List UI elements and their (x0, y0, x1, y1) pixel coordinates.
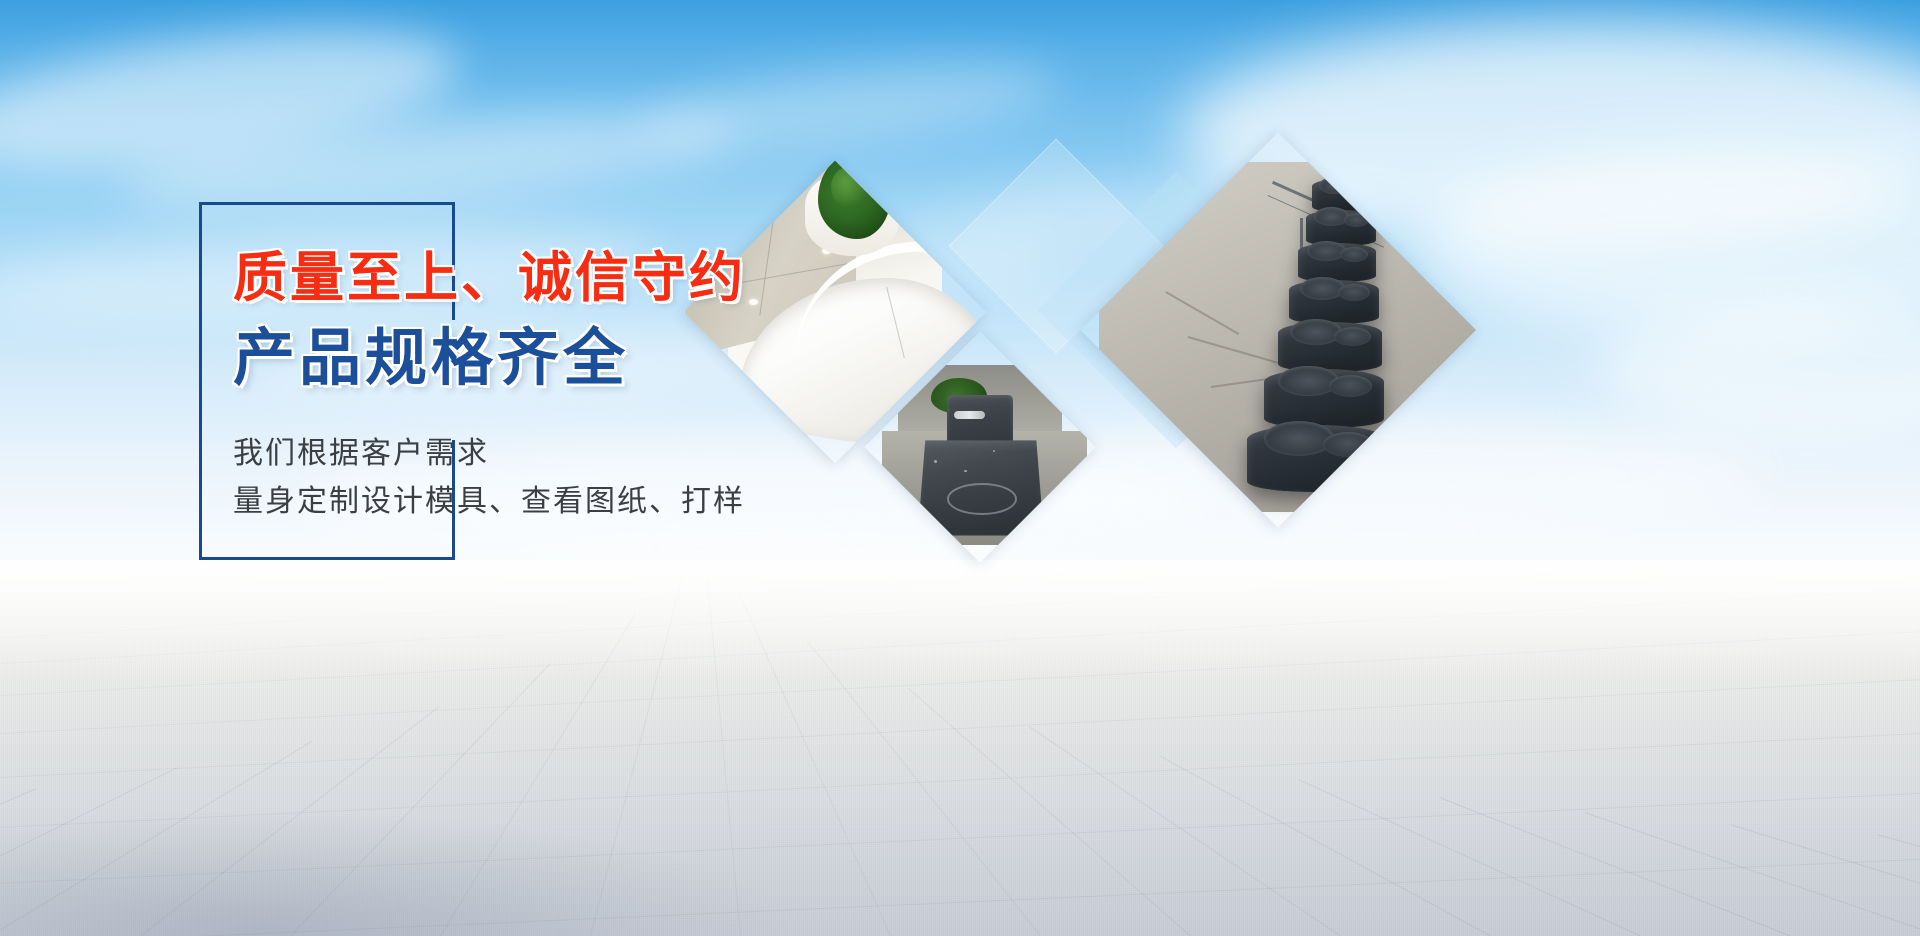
cloud-wisp (637, 48, 1062, 162)
banner-text-block: 质量至上、诚信守约 产品规格齐全 我们根据客户需求 量身定制设计模具、查看图纸、… (233, 248, 1133, 527)
frame-top-edge (199, 202, 455, 205)
promo-banner: 质量至上、诚信守约 产品规格齐全 我们根据客户需求 量身定制设计模具、查看图纸、… (0, 0, 1920, 936)
tank-unit (1278, 322, 1382, 372)
subtitle-group: 我们根据客户需求 量身定制设计模具、查看图纸、打样 (233, 430, 1133, 527)
tank-row (1138, 190, 1418, 470)
ground-shadow (0, 810, 800, 936)
subtitle-line-1: 我们根据客户需求 (233, 430, 1133, 479)
subtitle-line-2: 量身定制设计模具、查看图纸、打样 (233, 478, 1133, 527)
tank-unit (1298, 243, 1376, 282)
plaza-ground (0, 560, 1920, 936)
ground-horizon-haze (0, 560, 1920, 680)
tank-unit (1264, 369, 1384, 428)
frame-bottom-edge (199, 557, 455, 560)
frame-left-edge (199, 202, 202, 560)
headline-red: 质量至上、诚信守约 (233, 248, 1133, 308)
headline-blue: 产品规格齐全 (233, 322, 1133, 395)
tank-unit (1289, 280, 1379, 325)
